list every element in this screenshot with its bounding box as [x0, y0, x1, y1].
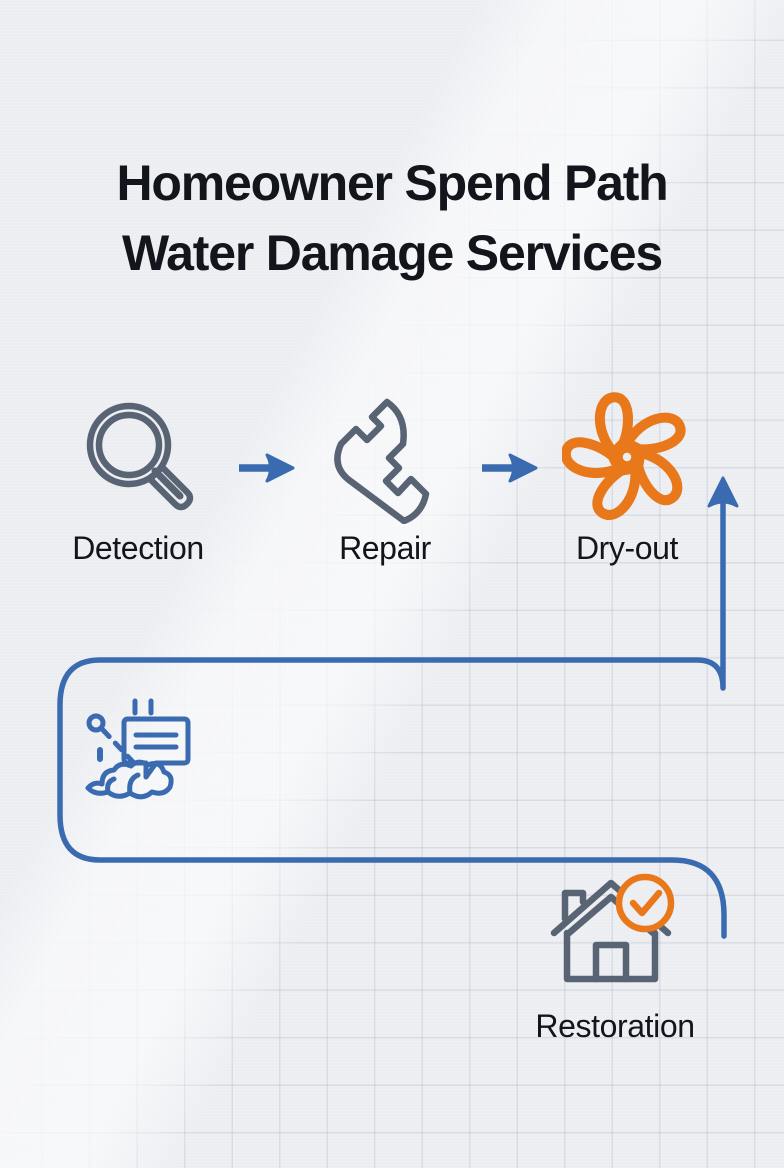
- moisture-report-icon: [84, 697, 200, 803]
- title-line-2: Water Damage Services: [0, 218, 784, 288]
- process-step-row: Detection Repair: [0, 388, 784, 598]
- step-restoration-label: Restoration: [500, 1008, 730, 1045]
- step-detection[interactable]: Detection: [38, 388, 238, 567]
- magnifier-icon: [76, 395, 200, 519]
- step-repair-icon-slot: [285, 388, 485, 526]
- infographic-canvas: Homeowner Spend Path Water Damage Servic…: [0, 0, 784, 1168]
- moisture-report-icon-wrap: [84, 697, 200, 808]
- arrow-right-icon: [480, 448, 542, 488]
- title-line-1: Homeowner Spend Path: [0, 148, 784, 218]
- house-check-icon: [549, 871, 681, 993]
- step-detection-label: Detection: [38, 530, 238, 567]
- step-restoration[interactable]: Restoration: [500, 868, 730, 1045]
- check-circle-icon: [619, 877, 671, 929]
- step-restoration-icon-slot: [500, 868, 730, 996]
- step-dry-out-icon-slot: [527, 388, 727, 526]
- arrow-detection-to-repair: [237, 448, 299, 493]
- step-repair-label: Repair: [285, 530, 485, 567]
- arrow-repair-to-dryout: [480, 448, 542, 493]
- arrow-right-icon: [237, 448, 299, 488]
- step-detection-icon-slot: [38, 388, 238, 526]
- step-repair[interactable]: Repair: [285, 388, 485, 567]
- step-dry-out[interactable]: Dry-out: [527, 388, 727, 567]
- fan-icon: [562, 392, 692, 522]
- page-title: Homeowner Spend Path Water Damage Servic…: [0, 148, 784, 288]
- wrench-icon: [323, 390, 447, 524]
- step-dry-out-label: Dry-out: [527, 530, 727, 567]
